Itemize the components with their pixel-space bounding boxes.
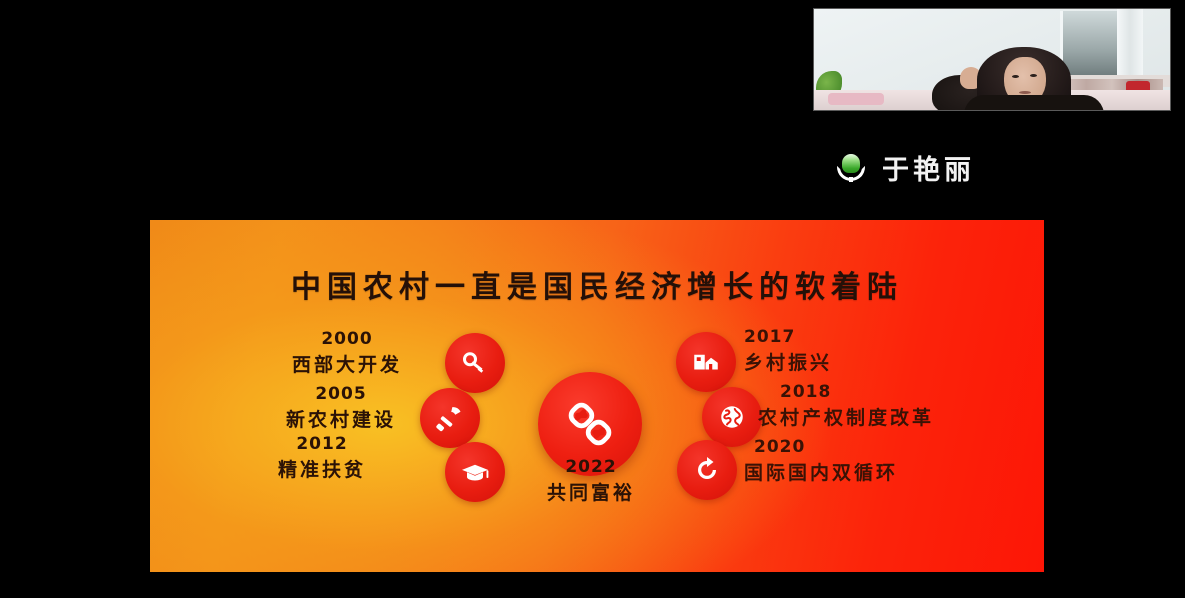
milestone-name-2017: 乡村振兴 (744, 351, 934, 376)
milestone-year-2018: 2018 (780, 383, 1040, 402)
milestone-label-2000: 2000 西部大开发 (262, 330, 432, 377)
key-icon (460, 348, 490, 378)
speaker-name: 于艳丽 (882, 148, 975, 187)
milestone-node-2018[interactable] (702, 387, 762, 447)
shared-slide[interactable]: 中国农村一直是国民经济增长的软着陆 2000 西部大开发 2005 新农村建设 … (150, 220, 1044, 572)
active-speaker-row: 于艳丽 (836, 148, 975, 187)
slide-title: 中国农村一直是国民经济增长的软着陆 (150, 262, 1044, 306)
video-conference-screen: 于艳丽 中国农村一直是国民经济增长的软着陆 2000 西部大开发 2005 新农… (0, 0, 1185, 598)
refresh-cycle-icon (692, 455, 722, 485)
milestone-name-2000: 西部大开发 (262, 353, 432, 378)
chain-link-icon (563, 397, 617, 451)
webcam-person-mouth (1019, 91, 1031, 94)
webcam-person-eye-left (1012, 75, 1019, 78)
milestone-label-2020: 2020 国际国内双循环 (754, 438, 984, 485)
graduation-cap-icon (460, 457, 490, 487)
presenter-webcam-thumbnail[interactable] (813, 8, 1171, 111)
microphone-icon (836, 153, 866, 183)
milestone-name-2018: 农村产权制度改革 (758, 406, 1040, 431)
webcam-curtain (1117, 9, 1143, 81)
milestone-name-2020: 国际国内双循环 (744, 461, 984, 486)
milestone-label-2017: 2017 乡村振兴 (744, 328, 934, 375)
milestone-year-2020: 2020 (754, 438, 984, 457)
webcam-person-eye-right (1030, 74, 1037, 77)
center-year-2022: 2022 (505, 458, 677, 477)
milestone-year-2000: 2000 (262, 330, 432, 349)
milestone-node-2012[interactable] (445, 442, 505, 502)
milestone-year-2005: 2005 (256, 385, 426, 404)
milestone-year-2012: 2012 (242, 435, 402, 454)
milestone-label-2018: 2018 农村产权制度改革 (780, 383, 1040, 430)
milestone-node-2017[interactable] (676, 332, 736, 392)
milestone-name-2012: 精准扶贫 (242, 458, 402, 483)
milestone-node-2000[interactable] (445, 333, 505, 393)
milestone-year-2017: 2017 (744, 328, 934, 347)
center-name-2022: 共同富裕 (505, 481, 677, 506)
globe-icon (717, 402, 747, 432)
webcam-person-body (964, 95, 1104, 111)
house-icon (691, 347, 721, 377)
milestone-node-2020[interactable] (677, 440, 737, 500)
milestone-label-2005: 2005 新农村建设 (256, 385, 426, 432)
milestone-label-2012: 2012 精准扶贫 (242, 435, 402, 482)
center-label-2022: 2022 共同富裕 (505, 458, 677, 505)
milestone-node-2005[interactable] (420, 388, 480, 448)
milestone-name-2005: 新农村建设 (256, 408, 426, 433)
webcam-pink-item (828, 93, 884, 105)
hammer-icon (435, 403, 465, 433)
